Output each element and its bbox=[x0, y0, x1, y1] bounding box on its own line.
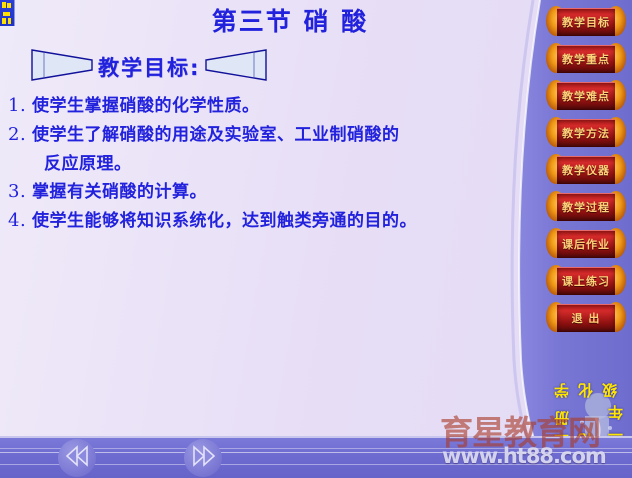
sidebar-button-label: 课上练习 bbox=[562, 273, 610, 289]
list-item: 4. 使学生能够将知识系统化，达到触类旁通的目的。 bbox=[8, 207, 518, 235]
list-item-number: 4. bbox=[8, 207, 32, 235]
barrel-body: 教学目标 bbox=[557, 8, 615, 36]
sidebar-button-homework[interactable]: 课后作业 bbox=[546, 228, 626, 258]
sidebar-button-label: 教学方法 bbox=[562, 125, 610, 141]
section-heading: 教学目标: bbox=[30, 48, 268, 86]
barrel-body: 退 出 bbox=[557, 304, 615, 332]
barrel-body: 教学难点 bbox=[557, 82, 615, 110]
objectives-list: 1. 使学生掌握硝酸的化学性质。 2. 使学生了解硝酸的用途及实验室、工业制硝酸… bbox=[8, 92, 518, 236]
list-item-text: 掌握有关硝酸的计算。 bbox=[32, 178, 518, 206]
sidebar-button-teaching-process[interactable]: 教学过程 bbox=[546, 191, 626, 221]
barrel-body: 教学仪器 bbox=[557, 156, 615, 184]
list-item-number: 3. bbox=[8, 178, 32, 206]
barrel-body: 教学重点 bbox=[557, 45, 615, 73]
list-item: 3. 掌握有关硝酸的计算。 bbox=[8, 178, 518, 206]
page-title: 第三节 硝 酸 bbox=[150, 2, 430, 38]
bowtie-left-icon bbox=[30, 48, 94, 86]
sidebar-button-teaching-objectives[interactable]: 教学目标 bbox=[546, 6, 626, 36]
sidebar-button-exit[interactable]: 退 出 bbox=[546, 302, 626, 332]
barrel-body: 课上练习 bbox=[557, 267, 615, 295]
sidebar-button-label: 教学目标 bbox=[562, 14, 610, 30]
list-item-text: 使学生了解硝酸的用途及实验室、工业制硝酸的 bbox=[32, 121, 518, 149]
bottom-navigation-bar bbox=[0, 436, 632, 478]
sidebar-button-label: 教学重点 bbox=[562, 51, 610, 67]
list-item-continuation: 反应原理。 bbox=[8, 150, 518, 178]
barrel-body: 教学方法 bbox=[557, 119, 615, 147]
sidebar-button-label: 教学难点 bbox=[562, 88, 610, 104]
sidebar-button-label: 退 出 bbox=[572, 310, 601, 326]
list-item-number: 2. bbox=[8, 121, 32, 149]
book-icon bbox=[0, 0, 15, 26]
divider bbox=[0, 448, 632, 449]
presentation-slide: 第三节 硝 酸 教学目标: 1. 使学生掌握硝酸的化学性质。 2. 使学生了解硝… bbox=[0, 0, 632, 478]
sidebar-button-label: 教学仪器 bbox=[562, 162, 610, 178]
sidebar-menu: 教学目标 教学重点 教学难点 教学方法 bbox=[546, 6, 632, 339]
barrel-body: 教学过程 bbox=[557, 193, 615, 221]
list-item: 2. 使学生了解硝酸的用途及实验室、工业制硝酸的 bbox=[8, 121, 518, 149]
list-item-text: 使学生掌握硝酸的化学性质。 bbox=[32, 92, 518, 120]
sidebar-button-label: 教学过程 bbox=[562, 199, 610, 215]
bowtie-right-icon bbox=[204, 48, 268, 86]
previous-slide-button[interactable] bbox=[58, 439, 96, 477]
fast-forward-icon bbox=[190, 445, 216, 471]
list-item-number: 1. bbox=[8, 92, 32, 120]
sidebar-button-label: 课后作业 bbox=[562, 236, 610, 252]
sidebar-button-teaching-apparatus[interactable]: 教学仪器 bbox=[546, 154, 626, 184]
sidebar-button-teaching-difficulty[interactable]: 教学难点 bbox=[546, 80, 626, 110]
list-item: 1. 使学生掌握硝酸的化学性质。 bbox=[8, 92, 518, 120]
barrel-body: 课后作业 bbox=[557, 230, 615, 258]
rewind-icon bbox=[64, 445, 90, 471]
next-slide-button[interactable] bbox=[184, 439, 222, 477]
section-heading-label: 教学目标: bbox=[98, 52, 200, 82]
sidebar-button-teaching-method[interactable]: 教学方法 bbox=[546, 117, 626, 147]
sidebar-button-in-class-exercise[interactable]: 课上练习 bbox=[546, 265, 626, 295]
list-item-text: 使学生能够将知识系统化，达到触类旁通的目的。 bbox=[32, 207, 518, 235]
sidebar-button-teaching-focus[interactable]: 教学重点 bbox=[546, 43, 626, 73]
